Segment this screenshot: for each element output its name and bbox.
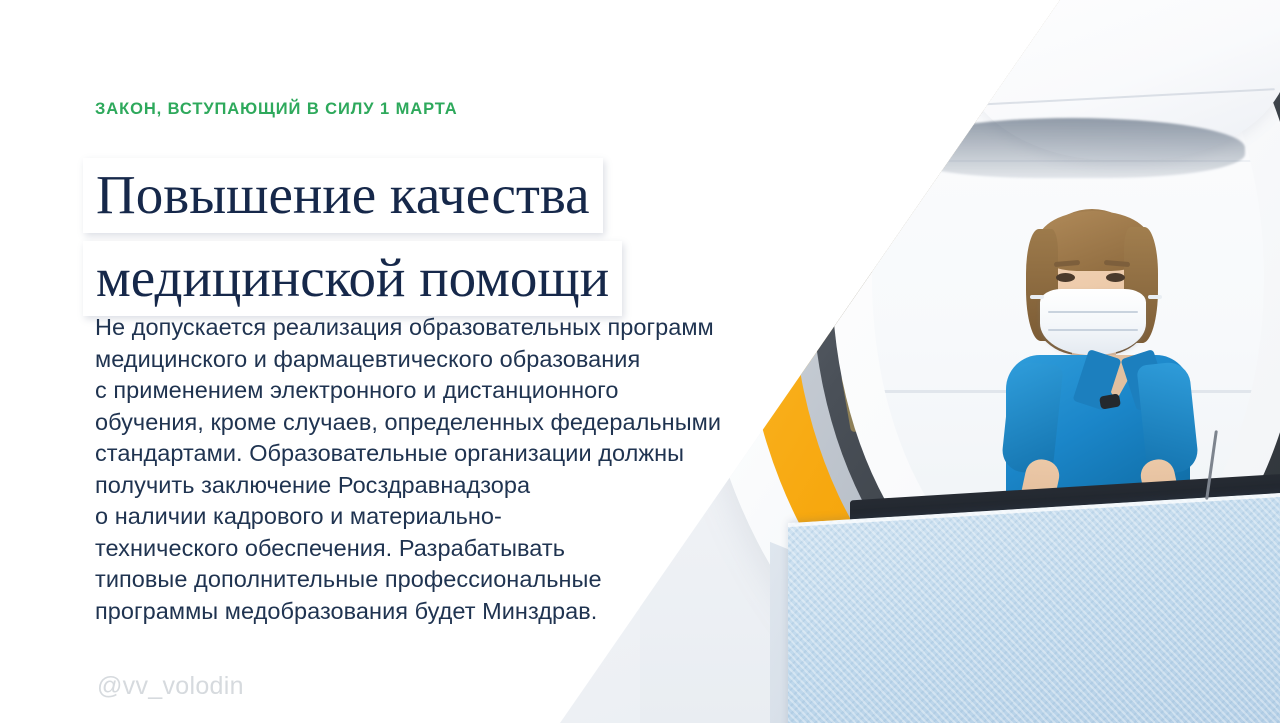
mask-strap-left — [1030, 295, 1044, 299]
nurse-eye-right — [1106, 273, 1125, 282]
mask-strap-right — [1148, 295, 1162, 299]
watermark-handle: @vv_volodin — [97, 672, 244, 701]
nurse-figure — [972, 205, 1222, 525]
body-paragraph: Не допускается реализация образовательны… — [95, 312, 795, 627]
slide-root: ЗАКОН, ВСТУПАЮЩИЙ В СИЛУ 1 МАРТА Повышен… — [0, 0, 1280, 723]
page-title-line-2: медицинской помощи — [83, 241, 622, 316]
mask-pleat-upper — [1048, 311, 1138, 313]
face-mask-icon — [1040, 289, 1146, 355]
scrubs-sleeve-left — [1000, 361, 1063, 476]
scanner-bed-sheet — [788, 489, 1280, 723]
eyebrow-label: ЗАКОН, ВСТУПАЮЩИЙ В СИЛУ 1 МАРТА — [95, 100, 458, 119]
scrubs-sleeve-right — [1136, 361, 1199, 476]
page-title: Повышение качества медицинской помощи — [83, 158, 743, 316]
page-title-line-1: Повышение качества — [83, 158, 603, 233]
badge-clip-icon — [1099, 393, 1121, 409]
nurse-eye-left — [1056, 273, 1075, 282]
mask-pleat-lower — [1048, 329, 1138, 331]
scanner-ring-detail — [828, 231, 863, 276]
scanner-bore-shadow — [900, 118, 1245, 178]
